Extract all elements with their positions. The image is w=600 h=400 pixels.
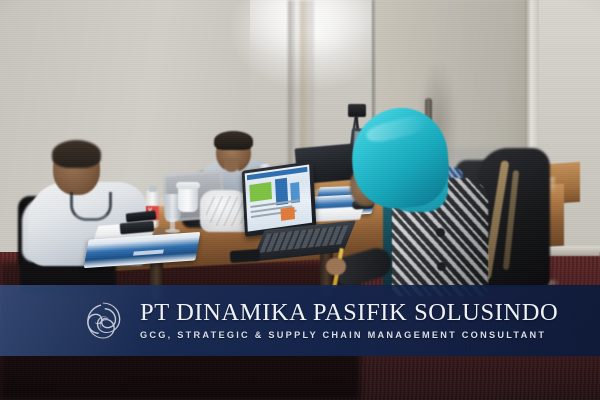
eyeglasses-icon	[217, 147, 250, 156]
power-adapter	[230, 249, 261, 263]
garment-button	[436, 228, 445, 237]
screenshot-canvas: V	[0, 0, 600, 400]
screen-orange-block	[281, 207, 295, 221]
person-man-left-hair	[52, 140, 101, 168]
keyboard-keys	[259, 225, 348, 252]
company-name: PT DINAMIKA PASIFIK SOLUSINDO	[140, 301, 558, 326]
person-man-center-hand	[224, 158, 239, 172]
brand-block: PT DINAMIKA PASIFIK SOLUSINDO GCG, STRAT…	[140, 301, 558, 341]
person-woman-hand	[326, 258, 346, 275]
cup-lid	[176, 182, 200, 189]
garment-button	[437, 262, 446, 271]
plastic-bag-folds	[206, 196, 246, 226]
company-tagline: GCG, STRATEGIC & SUPPLY CHAIN MANAGEMENT…	[140, 331, 558, 340]
bottle-cap	[149, 186, 157, 192]
screen-green-block	[249, 182, 272, 202]
swirl-infinity-logo-icon	[78, 298, 124, 344]
lanyard-icon	[70, 192, 112, 221]
glass-base	[165, 229, 180, 233]
laptop-main-screen	[245, 164, 312, 231]
binder-label	[133, 249, 164, 255]
company-banner: PT DINAMIKA PASIFIK SOLUSINDO GCG, STRAT…	[0, 285, 600, 356]
coffee-cup	[178, 186, 198, 212]
